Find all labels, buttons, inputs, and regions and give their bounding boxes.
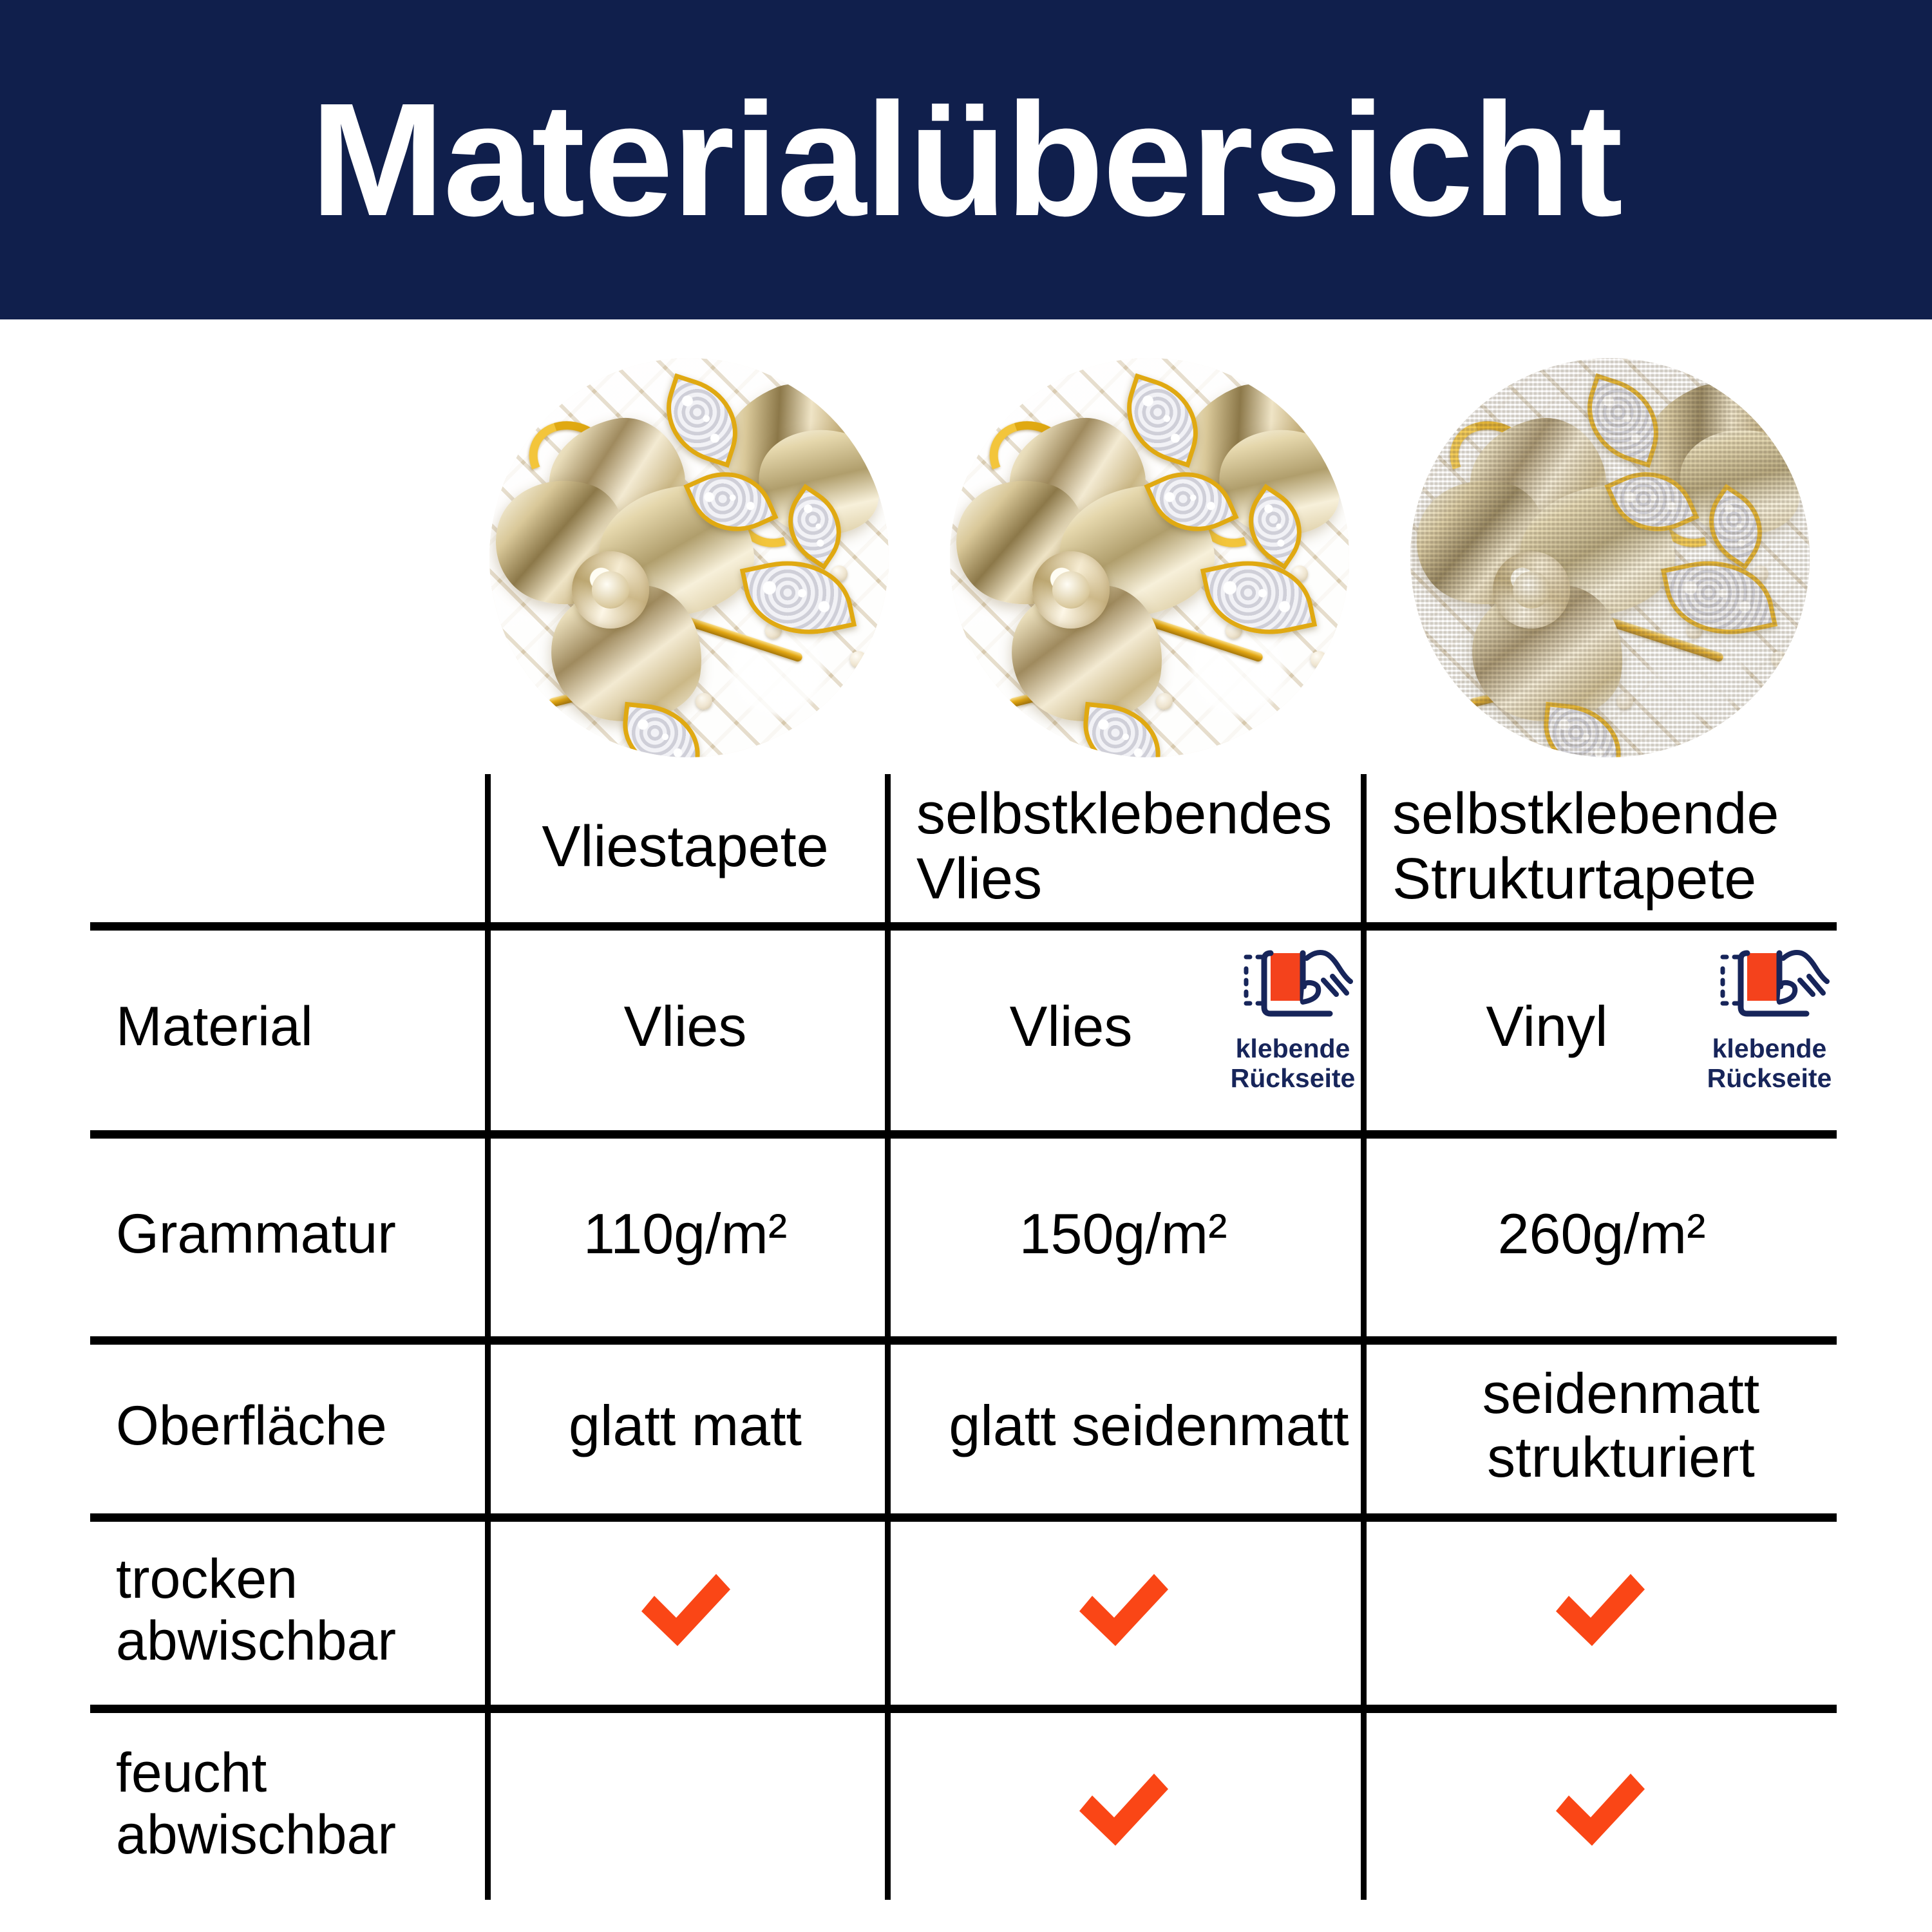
tuft-button: [850, 651, 867, 668]
artwork-golden-flowers: [489, 358, 889, 757]
row-label-text: Oberfläche: [116, 1395, 387, 1457]
row-label-material: Material: [90, 928, 509, 1125]
badge-label: klebende Rückseite: [1707, 1034, 1832, 1094]
artwork-golden-flowers: [1410, 358, 1810, 757]
cell-grammatur-selbstklebende-strukturtapete: 260g/m²: [1367, 1136, 1837, 1332]
column-header-label: Vliestapete: [542, 815, 828, 880]
column-divider-2: [885, 774, 891, 1900]
row-label-text: Grammatur: [116, 1203, 396, 1265]
preview-circle-selbstklebendes-vlies: [950, 358, 1349, 757]
artwork-golden-flowers: [950, 358, 1349, 757]
preview-circle-selbstklebende-strukturtapete: [1410, 358, 1810, 757]
badge-klebende-rueckseite-col2: klebende Rückseite: [1224, 940, 1362, 1094]
badge-line-1: klebende: [1712, 1034, 1827, 1063]
tuft-button: [1156, 693, 1173, 710]
page-header-banner: Materialübersicht: [0, 0, 1932, 319]
preview-circle-vliestapete: [489, 358, 889, 757]
cell-material-selbstklebendes-vlies: Vlies: [891, 928, 1251, 1125]
row-label-text: trocken abwischbar: [116, 1548, 509, 1672]
badge-line-2: Rückseite: [1231, 1063, 1356, 1093]
row-label-feucht-abwischbar: feucht abwischbar: [90, 1710, 509, 1897]
cell-material-vliestapete: Vlies: [491, 928, 880, 1125]
check-icon-feucht-col2: [1069, 1765, 1179, 1855]
cell-material-selbstklebende-strukturtapete: Vinyl: [1367, 928, 1727, 1125]
cell-value: glatt matt: [569, 1394, 802, 1458]
cell-oberflaeche-vliestapete: glatt matt: [491, 1342, 880, 1510]
cell-value: Vinyl: [1486, 995, 1607, 1059]
badge-line-2: Rückseite: [1707, 1063, 1832, 1093]
peel-sticker-icon: [1232, 940, 1354, 1030]
peel-sticker-icon: [1709, 940, 1831, 1030]
cell-oberflaeche-selbstklebendes-vlies: glatt seidenmatt: [891, 1342, 1407, 1510]
structure-fade-overlay: [1410, 358, 1810, 757]
cell-value: seidenmatt strukturiert: [1386, 1362, 1856, 1489]
row-label-trocken-abwischbar: trocken abwischbar: [90, 1519, 509, 1701]
cell-value: Vlies: [1010, 995, 1133, 1059]
flower-center: [1032, 551, 1110, 629]
row-label-oberflaeche: Oberfläche: [90, 1342, 509, 1510]
check-icon-trocken-col1: [631, 1565, 741, 1655]
row-label-text: feucht abwischbar: [116, 1742, 509, 1866]
cell-grammatur-vliestapete: 110g/m²: [491, 1136, 880, 1332]
cell-value: glatt seidenmatt: [949, 1394, 1349, 1458]
tuft-button: [696, 693, 712, 710]
cell-value: 110g/m²: [583, 1202, 787, 1266]
column-header-selbstklebende-strukturtapete: selbstklebende Strukturtapete: [1367, 776, 1862, 918]
cell-value: 150g/m²: [1019, 1202, 1227, 1266]
page-title: Materialübersicht: [310, 79, 1622, 240]
check-icon-feucht-col3: [1546, 1765, 1655, 1855]
badge-line-1: klebende: [1236, 1034, 1350, 1063]
column-header-selbstklebendes-vlies: selbstklebendes Vlies: [891, 776, 1381, 918]
cell-value: Vlies: [624, 995, 747, 1059]
flower-center: [572, 551, 649, 629]
column-header-vliestapete: Vliestapete: [491, 776, 880, 918]
cell-grammatur-selbstklebendes-vlies: 150g/m²: [891, 1136, 1356, 1332]
cell-oberflaeche-selbstklebende-strukturtapete: seidenmatt strukturiert: [1367, 1342, 1875, 1510]
check-icon-trocken-col2: [1069, 1565, 1179, 1655]
cell-value: 260g/m²: [1498, 1202, 1706, 1266]
material-overview-page: Materialübersicht: [0, 0, 1932, 1932]
badge-label: klebende Rückseite: [1231, 1034, 1356, 1094]
preview-circles-row: [0, 358, 1932, 757]
column-header-label: selbstklebendes Vlies: [916, 782, 1381, 912]
badge-klebende-rueckseite-col3: klebende Rückseite: [1700, 940, 1839, 1094]
column-header-label: selbstklebende Strukturtapete: [1392, 782, 1862, 912]
check-icon-trocken-col3: [1546, 1565, 1655, 1655]
row-label-text: Material: [116, 996, 313, 1057]
row-label-grammatur: Grammatur: [90, 1136, 509, 1332]
tuft-button: [1311, 651, 1327, 668]
